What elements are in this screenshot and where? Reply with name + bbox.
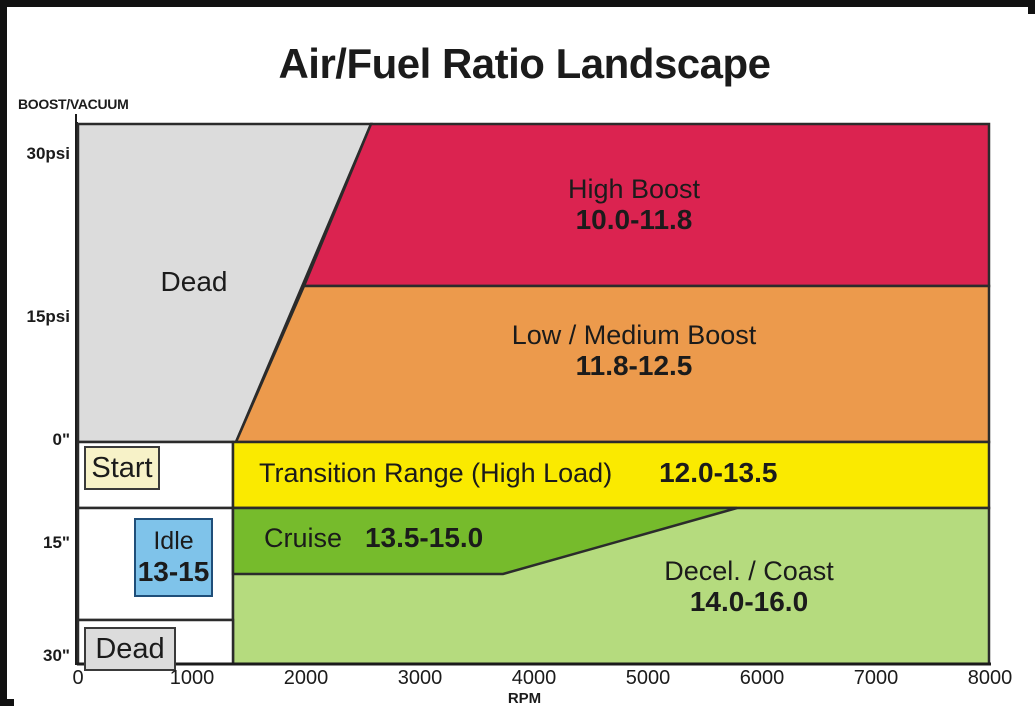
x-axis-title: RPM [14, 690, 1035, 707]
x-tick-label-5000: 5000 [603, 667, 693, 690]
x-tick-label-1000: 1000 [147, 667, 237, 690]
x-tick-label-4000: 4000 [489, 667, 579, 690]
region-label-cruise: Cruise 13.5-15.0 [264, 522, 684, 553]
x-tick-label-8000: 8000 [945, 667, 1035, 690]
box-idle-value: 13-15 [138, 556, 210, 588]
region-value-cruise: 13.5-15.0 [365, 522, 483, 553]
box-dead-lower: Dead [84, 627, 176, 671]
x-tick-label-6000: 6000 [717, 667, 807, 690]
region-name-high-boost: High Boost [454, 174, 814, 204]
region-name-decel-coast: Decel. / Coast [589, 556, 909, 586]
x-tick-label-0: 0 [33, 667, 123, 690]
region-label-transition: Transition Range (High Load) 12.0-13.5 [259, 457, 959, 488]
region-label-low-medium-boost: Low / Medium Boost 11.8-12.5 [414, 320, 854, 382]
region-name-transition: Transition Range (High Load) [259, 458, 612, 488]
region-value-high-boost: 10.0-11.8 [454, 204, 814, 235]
region-label-dead-upper: Dead [129, 266, 259, 298]
chart-canvas: Air/Fuel Ratio Landscape BOOST/VACUUM 30… [14, 14, 1035, 706]
x-tick-label-2000: 2000 [261, 667, 351, 690]
region-name-low-medium-boost: Low / Medium Boost [414, 320, 854, 350]
region-label-decel-coast: Decel. / Coast 14.0-16.0 [589, 556, 909, 618]
box-start: Start [84, 446, 160, 490]
x-tick-label-7000: 7000 [831, 667, 921, 690]
region-label-high-boost: High Boost 10.0-11.8 [454, 174, 814, 236]
box-start-label: Start [91, 452, 152, 485]
box-dead-lower-label: Dead [95, 633, 164, 666]
x-tick-label-3000: 3000 [375, 667, 465, 690]
region-value-decel-coast: 14.0-16.0 [589, 586, 909, 617]
region-value-low-medium-boost: 11.8-12.5 [414, 350, 854, 381]
region-value-transition: 12.0-13.5 [659, 457, 777, 488]
box-idle-label: Idle [153, 527, 193, 556]
box-idle: Idle 13-15 [134, 518, 213, 597]
chart-frame: Air/Fuel Ratio Landscape BOOST/VACUUM 30… [0, 0, 1035, 706]
region-name-cruise: Cruise [264, 523, 342, 553]
